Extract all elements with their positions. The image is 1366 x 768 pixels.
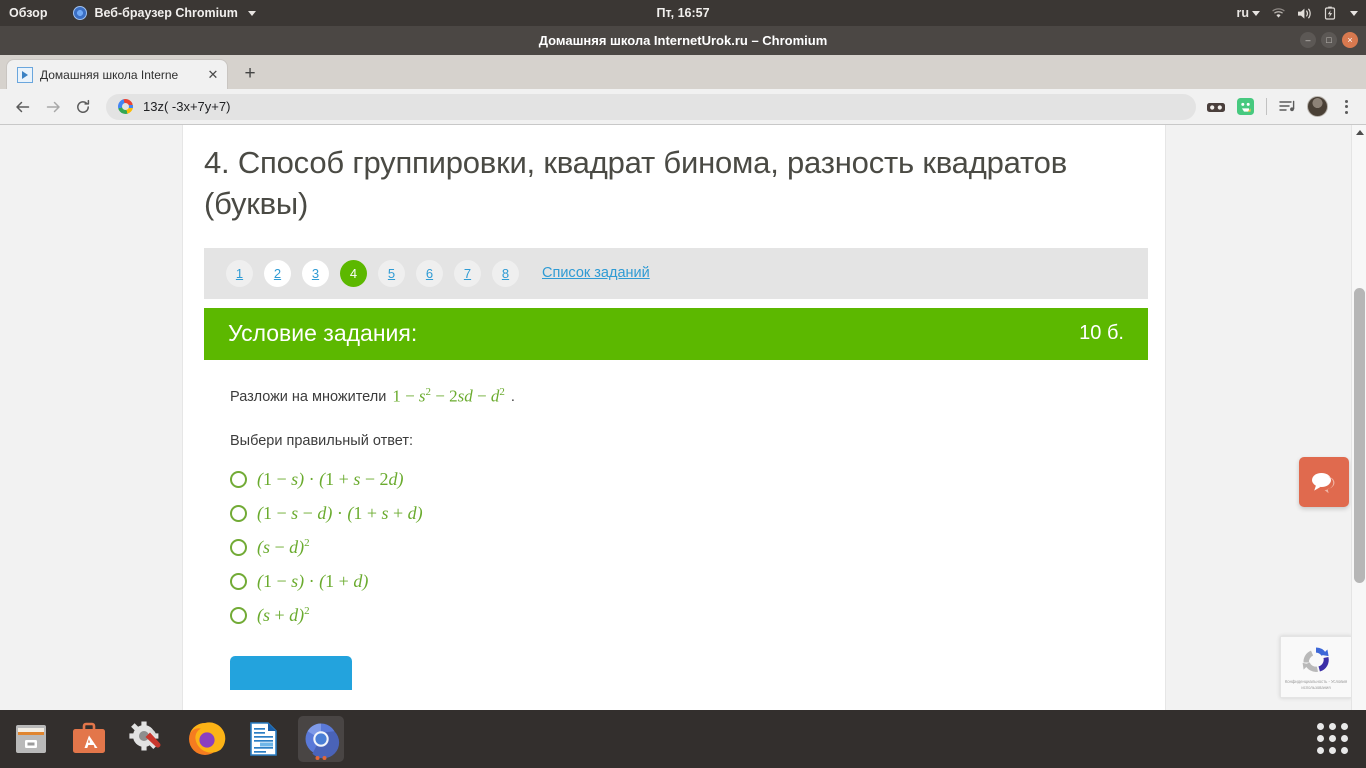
music-list-icon[interactable] <box>1276 95 1300 119</box>
scroll-up-arrow-icon[interactable] <box>1352 125 1366 140</box>
system-indicators: ru <box>1237 6 1359 20</box>
reload-icon[interactable] <box>68 92 98 122</box>
option-expression-2: (1 − s − d) · (1 + s + d) <box>257 503 423 524</box>
toolbar-divider <box>1266 98 1267 115</box>
option-row-3[interactable]: (s − d)2 <box>230 530 1122 564</box>
radio-button-5[interactable] <box>230 607 247 624</box>
radio-button-2[interactable] <box>230 505 247 522</box>
task-statement: Разложи на множители 1 − s2 − 2sd − d2. <box>230 386 1122 407</box>
chevron-down-icon[interactable] <box>1350 11 1358 16</box>
chat-bubbles-icon <box>1309 470 1339 494</box>
recaptcha-icon <box>1298 643 1334 676</box>
dock-item-files-manager[interactable] <box>8 716 54 762</box>
tab-close-icon[interactable]: ✕ <box>205 68 221 81</box>
forward-icon[interactable] <box>38 92 68 122</box>
browser-toolbar: 13z( -3x+7y+7) <box>0 89 1366 125</box>
tab-strip: Домашняя школа Interne ✕ + <box>0 55 1366 89</box>
radio-button-4[interactable] <box>230 573 247 590</box>
recaptcha-legal-text[interactable]: Конфиденциальность - Условия использован… <box>1281 679 1351 692</box>
submit-answer-button[interactable] <box>230 656 352 690</box>
battery-icon[interactable] <box>1324 6 1336 20</box>
pagination-item-3[interactable]: 3 <box>302 260 329 287</box>
task-header: Условие задания: 10 б. <box>204 308 1148 360</box>
tab-favicon-icon <box>17 67 33 83</box>
task-points-badge: 10 б. <box>1079 322 1124 345</box>
radio-button-1[interactable] <box>230 471 247 488</box>
pagination-item-2[interactable]: 2 <box>264 260 291 287</box>
scrollbar-thumb[interactable] <box>1354 288 1365 583</box>
unity-launcher <box>0 710 1366 768</box>
radio-button-3[interactable] <box>230 539 247 556</box>
close-button[interactable]: × <box>1342 32 1358 48</box>
statement-period: . <box>511 389 515 405</box>
running-indicator <box>316 756 327 760</box>
wifi-icon[interactable] <box>1271 7 1286 19</box>
browser-tab[interactable]: Домашняя школа Interne ✕ <box>6 59 228 89</box>
mask-extension-icon[interactable] <box>1204 95 1228 119</box>
back-icon[interactable] <box>8 92 38 122</box>
pagination-item-6[interactable]: 6 <box>416 260 443 287</box>
option-row-4[interactable]: (1 − s) · (1 + d) <box>230 564 1122 598</box>
answer-options: (1 − s) · (1 + s − 2d) (1 − s − d) · (1 … <box>230 462 1122 632</box>
option-row-5[interactable]: (s + d)2 <box>230 598 1122 632</box>
address-bar-input[interactable]: 13z( -3x+7y+7) <box>143 99 230 114</box>
choose-answer-label: Выбери правильный ответ: <box>230 433 1122 449</box>
task-header-label: Условие задания: <box>228 320 417 347</box>
dock-item-firefox[interactable] <box>182 716 228 762</box>
option-expression-1: (1 − s) · (1 + s − 2d) <box>257 469 403 490</box>
option-expression-3: (s − d)2 <box>257 537 310 558</box>
page-title: 4. Способ группировки, квадрат бинома, р… <box>204 125 1148 225</box>
dock-item-chromium[interactable] <box>298 716 344 762</box>
pagination-item-7[interactable]: 7 <box>454 260 481 287</box>
page-scrollbar[interactable] <box>1351 125 1366 710</box>
window-title: Домашняя школа InternetUrok.ru – Chromiu… <box>539 33 828 48</box>
chromium-window: Домашняя школа Interne ✕ + 13z( -3x+7y+7… <box>0 55 1366 710</box>
green-smiley-extension-icon[interactable] <box>1233 95 1257 119</box>
task-body: Разложи на множители 1 − s2 − 2sd − d2. … <box>204 360 1148 633</box>
chat-widget-button[interactable] <box>1299 457 1349 507</box>
task-list-link[interactable]: Список заданий <box>542 265 650 281</box>
recaptcha-badge[interactable]: Конфиденциальность - Условия использован… <box>1280 636 1352 698</box>
task-pagination: 1 2 3 4 5 6 7 8 Список заданий <box>204 248 1148 299</box>
profile-avatar-icon[interactable] <box>1305 95 1329 119</box>
chevron-down-icon <box>1252 11 1260 16</box>
clock[interactable]: Пт, 16:57 <box>0 6 1366 20</box>
pagination-item-5[interactable]: 5 <box>378 260 405 287</box>
address-bar[interactable]: 13z( -3x+7y+7) <box>106 94 1196 120</box>
unity-top-panel: Обзор Веб-браузер Chromium Пт, 16:57 ru <box>0 0 1366 26</box>
dock-item-system-settings[interactable] <box>124 716 170 762</box>
keyboard-layout-indicator[interactable]: ru <box>1237 6 1261 20</box>
google-icon <box>118 99 133 114</box>
window-controls: – □ × <box>1300 32 1358 48</box>
statement-expression: 1 − s2 − 2sd − d2 <box>392 386 505 407</box>
volume-icon[interactable] <box>1297 7 1313 20</box>
dock-item-ubuntu-software[interactable] <box>66 716 112 762</box>
app-grid-icon[interactable] <box>1317 723 1348 754</box>
page-content: 4. Способ группировки, квадрат бинома, р… <box>204 125 1148 690</box>
option-row-2[interactable]: (1 − s − d) · (1 + s + d) <box>230 496 1122 530</box>
pagination-item-4[interactable]: 4 <box>340 260 367 287</box>
page-viewport: 4. Способ группировки, квадрат бинома, р… <box>0 125 1366 710</box>
option-expression-4: (1 − s) · (1 + d) <box>257 571 368 592</box>
window-titlebar: Домашняя школа InternetUrok.ru – Chromiu… <box>0 26 1366 55</box>
pagination-item-1[interactable]: 1 <box>226 260 253 287</box>
chrome-menu-icon[interactable] <box>1334 95 1358 119</box>
new-tab-button[interactable]: + <box>236 60 264 88</box>
toolbar-actions <box>1204 95 1358 119</box>
option-row-1[interactable]: (1 − s) · (1 + s − 2d) <box>230 462 1122 496</box>
dock-item-libreoffice-writer[interactable] <box>240 716 286 762</box>
tab-title: Домашняя школа Interne <box>40 68 205 82</box>
minimize-button[interactable]: – <box>1300 32 1316 48</box>
pagination-item-8[interactable]: 8 <box>492 260 519 287</box>
option-expression-5: (s + d)2 <box>257 605 310 626</box>
statement-prompt: Разложи на множители <box>230 389 386 405</box>
maximize-button[interactable]: □ <box>1321 32 1337 48</box>
